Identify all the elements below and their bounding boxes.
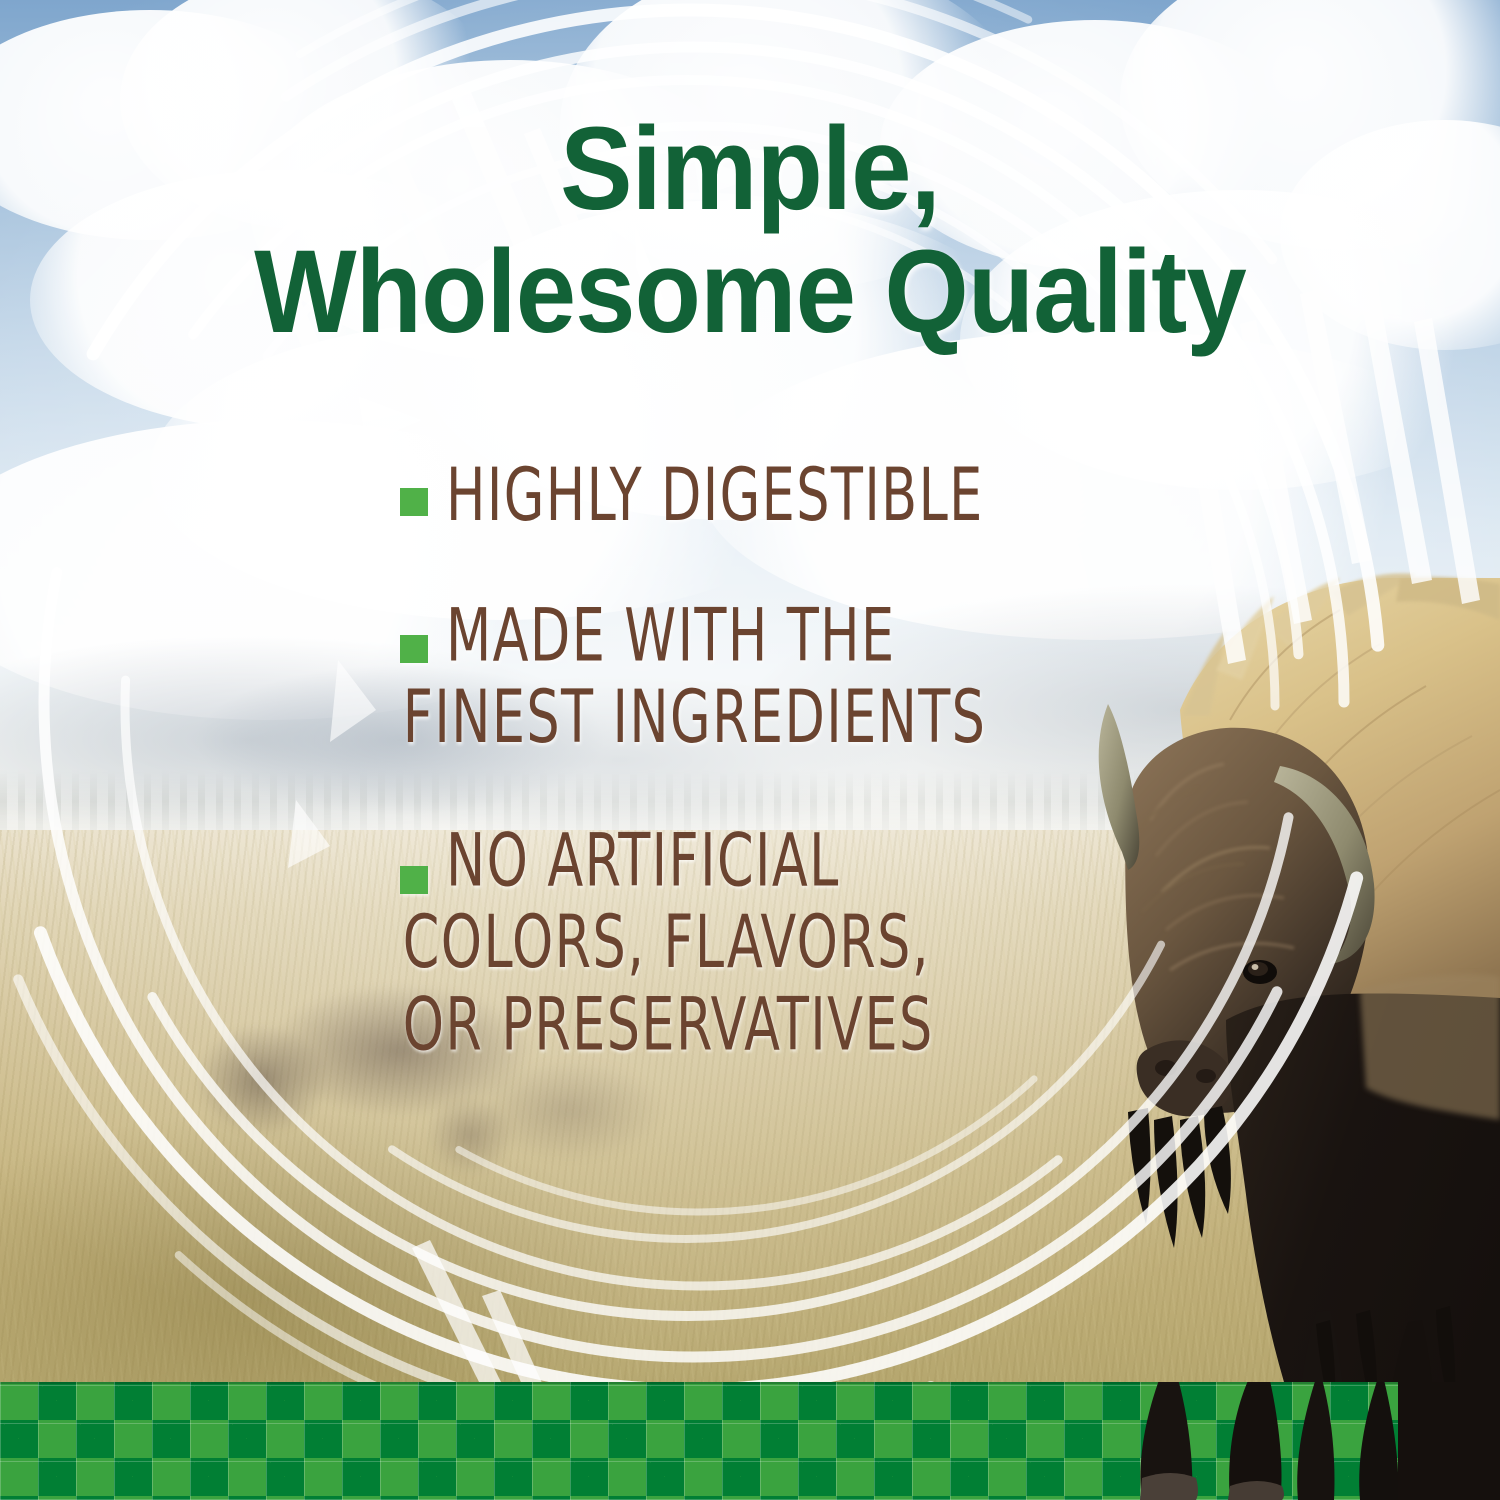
- list-item-text: Made with the finest ingredients: [446, 595, 986, 759]
- list-item-text: Highly Digestible: [446, 454, 984, 536]
- page-title: Simple, Wholesome Quality: [60, 108, 1440, 353]
- list-item: No Artificial Colors, Flavors, or Preser…: [400, 838, 1100, 1046]
- headline-line-2: Wholesome Quality: [60, 231, 1440, 354]
- promo-banner: Simple, Wholesome Quality Highly Digesti…: [0, 0, 1500, 1500]
- green-square-bullet-icon: [400, 635, 428, 663]
- list-item-line: Colors, Flavors,: [403, 902, 934, 984]
- list-item-text: No Artificial Colors, Flavors, or Preser…: [446, 820, 934, 1066]
- list-item-line: Made with the: [446, 595, 986, 677]
- headline-line-1: Simple,: [60, 108, 1440, 231]
- feature-list: Highly Digestible Made with the finest i…: [400, 460, 1100, 1053]
- green-square-bullet-icon: [400, 488, 428, 516]
- list-item-line: or Preservatives: [403, 983, 934, 1065]
- list-item: Made with the finest ingredients: [400, 607, 1100, 746]
- green-square-bullet-icon: [400, 866, 428, 894]
- bison-legs-over-footer: [1030, 1382, 1500, 1500]
- list-item-line: Highly Digestible: [446, 454, 984, 536]
- list-item-line: No Artificial: [446, 820, 934, 902]
- list-item-line: finest ingredients: [403, 677, 987, 759]
- list-item: Highly Digestible: [400, 460, 1100, 529]
